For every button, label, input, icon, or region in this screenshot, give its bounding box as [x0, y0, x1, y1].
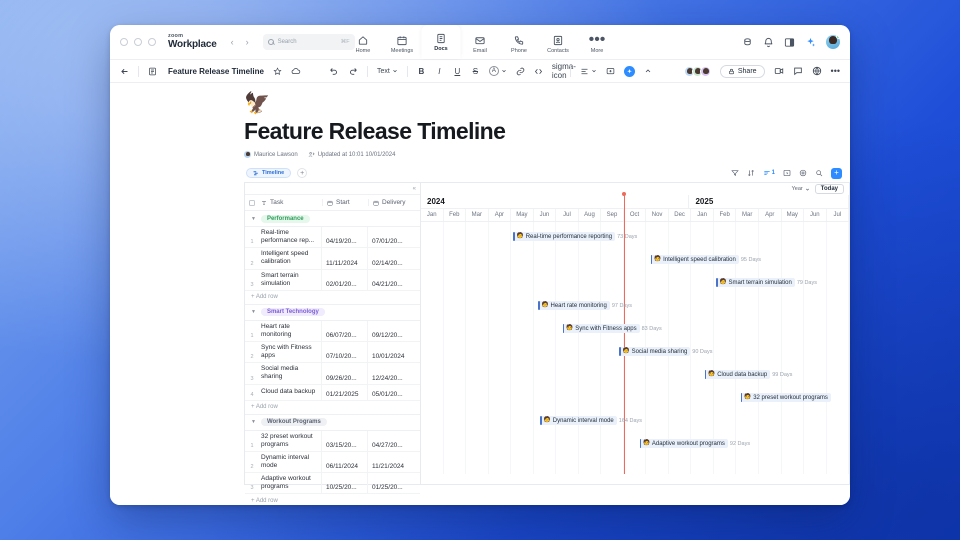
view-tab-label: Timeline	[262, 170, 284, 176]
column-header-start[interactable]: Start	[322, 199, 368, 206]
table-row[interactable]: 3Adaptive workout programs10/25/20...01/…	[245, 473, 420, 494]
cell-task[interactable]: Smart terrain simulation	[259, 270, 322, 290]
gantt-month-label: Feb	[444, 209, 467, 221]
gantt-month-label: Jul	[556, 209, 579, 221]
add-row-button[interactable]: + Add row	[245, 494, 420, 505]
app-nav-phone-label: Phone	[511, 48, 527, 54]
app-nav-contacts-label: Contacts	[547, 48, 569, 54]
toolbar-divider-3	[407, 66, 408, 77]
gantt-bar-body[interactable]: 🧑Real-time performance reporting	[513, 232, 615, 241]
add-row-button[interactable]: + Add row	[245, 291, 420, 305]
cell-delivery[interactable]: 09/12/20...	[368, 321, 420, 341]
app-nav-meetings[interactable]: Meetings	[383, 29, 422, 59]
assignee-avatar-icon: 🧑	[744, 395, 751, 401]
gantt-plot-area: 🧑Real-time performance reporting73 Days🧑…	[421, 222, 849, 474]
cell-task[interactable]: Real-time performance rep...	[259, 227, 322, 247]
table-row[interactable]: 2Sync with Fitness apps07/10/20...10/01/…	[245, 342, 420, 363]
gantt-month-label: Dec	[669, 209, 692, 221]
gantt-month-label: May	[782, 209, 805, 221]
collaborator-avatars[interactable]	[684, 66, 711, 77]
cell-delivery[interactable]: 07/01/20...	[368, 227, 420, 247]
gantt-bar-duration: 79 Days	[797, 280, 817, 286]
gridline	[444, 222, 467, 474]
gantt-bar-body[interactable]: 🧑Cloud data backup	[705, 370, 770, 379]
author-avatar	[244, 151, 251, 158]
bell-icon[interactable]	[763, 37, 774, 48]
gantt-month-label: Nov	[646, 209, 669, 221]
phone-icon	[514, 35, 525, 46]
gantt-bar-body[interactable]: 🧑32 preset workout programs	[741, 393, 831, 402]
mail-icon	[475, 35, 486, 46]
gantt-bar[interactable]: 🧑32 preset workout programs	[741, 393, 833, 402]
cover-emoji[interactable]: 🦅	[244, 93, 850, 114]
group-count: 1	[772, 170, 775, 176]
underline-button[interactable]: U	[453, 67, 462, 76]
add-record-button[interactable]: +	[831, 168, 842, 179]
gridline	[804, 222, 827, 474]
table-row[interactable]: 1Heart rate monitoring06/07/20...09/12/2…	[245, 321, 420, 342]
cell-task[interactable]: Sync with Fitness apps	[259, 342, 322, 362]
presence-indicator	[836, 35, 840, 39]
window-titlebar: zoom Workplace ‹ › Search ⌘F Home Mee	[110, 25, 850, 59]
row-index: 2	[245, 342, 259, 362]
ai-sparkle-icon[interactable]	[805, 37, 816, 48]
gantt-month-label: Oct	[624, 209, 647, 221]
database-tools[interactable]: 1 +	[731, 168, 850, 179]
table-header-row: Task Start Delivery	[245, 195, 420, 211]
user-avatar[interactable]	[826, 35, 840, 49]
close-button[interactable]	[120, 38, 128, 46]
gridline	[556, 222, 579, 474]
gantt-month-label: Mar	[466, 209, 489, 221]
gantt-month-label: Jun	[534, 209, 557, 221]
cell-start[interactable]: 07/10/20...	[322, 342, 368, 362]
search-icon	[268, 39, 274, 45]
gantt-bar-label: Dynamic interval mode	[553, 418, 614, 424]
home-icon	[358, 35, 369, 46]
cell-start[interactable]: 03/15/20...	[322, 431, 368, 451]
back-arrow-icon[interactable]	[120, 67, 129, 76]
cell-delivery[interactable]: 04/21/20...	[368, 270, 420, 290]
gantt-bar[interactable]: 🧑Intelligent speed calibration95 Days	[651, 255, 761, 264]
cell-task[interactable]: Cloud data backup	[259, 385, 322, 400]
formula-button[interactable]: sigma-icon	[552, 62, 561, 80]
database-toolbar[interactable]: Timeline + 1	[244, 167, 850, 179]
group-label: Performance	[261, 215, 310, 223]
gantt-bar-handle[interactable]	[538, 301, 540, 310]
global-search-input[interactable]: Search ⌘F	[263, 34, 355, 50]
document-title-breadcrumb[interactable]: Feature Release Timeline	[168, 67, 264, 76]
assignee-avatar-icon: 🧑	[654, 257, 661, 263]
assignee-avatar-icon: 🧑	[720, 280, 727, 286]
document-body: 🦅 Feature Release Timeline Maurice Lawso…	[110, 83, 850, 505]
cell-task[interactable]: Dynamic interval mode	[259, 452, 322, 472]
comment-box-icon[interactable]	[606, 67, 615, 76]
gantt-bar[interactable]: 🧑Social media sharing90 Days	[619, 347, 712, 356]
table-group-header[interactable]: ▼Performance	[245, 211, 420, 227]
table-group-header[interactable]: ▼Smart Technology	[245, 305, 420, 321]
cell-start[interactable]: 09/26/20...	[322, 363, 368, 383]
column-label-start: Start	[336, 199, 350, 206]
redo-icon[interactable]	[348, 66, 358, 76]
app-nav-home[interactable]: Home	[344, 29, 383, 59]
app-nav[interactable]: Home Meetings Docs Email	[344, 25, 617, 59]
app-nav-contacts[interactable]: Contacts	[539, 29, 578, 59]
gantt-month-label: Jan	[421, 209, 444, 221]
gantt-month-label: Mar	[736, 209, 759, 221]
app-nav-docs-label: Docs	[434, 46, 447, 52]
range-selector[interactable]: Year	[792, 186, 810, 192]
group-collapse-icon[interactable]: ▼	[251, 419, 256, 425]
group-collapse-icon[interactable]: ▼	[251, 216, 256, 222]
date-type-icon-2	[373, 200, 379, 206]
row-index: 1	[245, 227, 259, 247]
gantt-bar-handle[interactable]	[513, 232, 515, 241]
font-color-swatch: A	[489, 66, 499, 76]
gantt-bar-duration: 83 Days	[642, 326, 662, 332]
table-row[interactable]: 3Smart terrain simulation02/01/20...04/2…	[245, 270, 420, 291]
cell-start[interactable]: 11/11/2024	[322, 248, 368, 268]
assignee-avatar-icon: 🧑	[643, 441, 650, 447]
strikethrough-button[interactable]: S	[471, 67, 480, 76]
nav-forward-icon[interactable]: ›	[246, 37, 249, 47]
ai-icon[interactable]	[624, 66, 635, 77]
cell-delivery[interactable]: 02/14/20...	[368, 248, 420, 268]
document-toolbar[interactable]: Feature Release Timeline Text B I U S A	[110, 59, 850, 83]
timeline-icon	[253, 170, 259, 176]
row-index: 2	[245, 248, 259, 268]
gridline	[782, 222, 805, 474]
updated-info: Updated at 10:01 10/01/2024	[308, 151, 396, 158]
cell-task[interactable]: 32 preset workout programs	[259, 431, 322, 451]
cell-delivery[interactable]: 11/21/2024	[368, 452, 420, 472]
table-row[interactable]: 4Cloud data backup01/21/202505/01/20...	[245, 385, 420, 401]
cell-start[interactable]: 04/19/20...	[322, 227, 368, 247]
titlebar-right-actions[interactable]	[742, 35, 840, 49]
filter-icon[interactable]	[731, 169, 739, 177]
column-label-delivery: Delivery	[382, 199, 405, 206]
chevron-up-icon[interactable]	[644, 67, 652, 75]
panel-icon[interactable]	[784, 37, 795, 48]
gridline	[827, 222, 850, 474]
gantt-year-label: 2024	[421, 195, 689, 208]
cell-start[interactable]: 02/01/20...	[322, 270, 368, 290]
cell-task[interactable]: Adaptive workout programs	[259, 473, 322, 493]
gantt-bar-handle[interactable]	[741, 393, 743, 402]
assignee-avatar-icon: 🧑	[566, 326, 573, 332]
gantt-bar-label: Social media sharing	[632, 349, 688, 355]
date-type-icon	[327, 200, 333, 206]
link-icon[interactable]	[516, 67, 525, 76]
undo-icon[interactable]	[329, 66, 339, 76]
add-view-button[interactable]: +	[297, 168, 307, 178]
zoom-workplace-logo: zoom Workplace	[168, 34, 217, 51]
table-group-header[interactable]: ▼Workout Programs	[245, 415, 420, 431]
nav-back-icon[interactable]: ‹	[231, 37, 234, 47]
table-row[interactable]: 132 preset workout programs03/15/20...04…	[245, 431, 420, 452]
assignee-avatar-icon: 🧑	[708, 372, 715, 378]
row-index: 3	[245, 473, 259, 493]
gantt-year-header: 20242025	[421, 195, 849, 209]
gantt-bar-duration: 90 Days	[692, 349, 712, 355]
gantt-bar-duration: 97 Days	[612, 303, 632, 309]
history-nav[interactable]: ‹ ›	[231, 37, 249, 47]
timeline-grid: « Task Start	[244, 182, 850, 485]
document-content: 🦅 Feature Release Timeline Maurice Lawso…	[110, 93, 850, 485]
maximize-button[interactable]	[148, 38, 156, 46]
gantt-bar[interactable]: 🧑Real-time performance reporting73 Days	[513, 232, 637, 241]
gridline	[579, 222, 602, 474]
cell-start[interactable]: 01/21/2025	[322, 385, 368, 400]
video-icon[interactable]	[774, 66, 784, 76]
page-title[interactable]: Feature Release Timeline	[244, 118, 850, 145]
align-icon	[580, 67, 589, 76]
gridline	[511, 222, 534, 474]
gantt-month-label: Sep	[601, 209, 624, 221]
gantt-month-label: Jan	[691, 209, 714, 221]
doc-page-icon	[148, 67, 157, 76]
doc-icon	[436, 33, 447, 44]
app-nav-more-label: More	[591, 48, 604, 54]
cell-delivery[interactable]: 01/25/20...	[368, 473, 420, 493]
share-button[interactable]: Share	[720, 65, 765, 78]
sort-icon[interactable]	[747, 169, 755, 177]
app-nav-email[interactable]: Email	[461, 29, 500, 59]
table-row[interactable]: 3Social media sharing09/26/20...12/24/20…	[245, 363, 420, 384]
share-label: Share	[738, 68, 757, 75]
gantt-bar-duration: 95 Days	[741, 257, 761, 263]
gantt-month-label: Feb	[714, 209, 737, 221]
row-index: 1	[245, 321, 259, 341]
cell-delivery[interactable]: 04/27/20...	[368, 431, 420, 451]
toolbar-divider-2	[367, 66, 368, 77]
star-icon[interactable]	[273, 67, 282, 76]
table-collapse-button[interactable]: «	[245, 183, 420, 195]
gantt-bar-duration: 99 Days	[772, 372, 792, 378]
gantt-bar-handle[interactable]	[540, 416, 542, 425]
cell-task[interactable]: Heart rate monitoring	[259, 321, 322, 341]
gridline	[534, 222, 557, 474]
row-index: 1	[245, 431, 259, 451]
brand-line-2: Workplace	[168, 40, 217, 50]
calendar-icon	[397, 35, 408, 46]
cell-start[interactable]: 06/11/2024	[322, 452, 368, 472]
gantt-bar-body[interactable]: 🧑Dynamic interval mode	[540, 416, 616, 425]
gridline	[489, 222, 512, 474]
lock-icon	[728, 68, 735, 75]
updated-text: Updated at 10:01 10/01/2024	[318, 152, 396, 158]
chevron-down-icon-2	[501, 68, 507, 74]
text-style-dropdown[interactable]: Text	[377, 68, 398, 75]
gridline	[759, 222, 782, 474]
gantt-bar-duration: 164 Days	[619, 418, 642, 424]
gridline	[466, 222, 489, 474]
add-row-button[interactable]: + Add row	[245, 401, 420, 415]
table-row[interactable]: 1Real-time performance rep...04/19/20...…	[245, 227, 420, 248]
app-nav-phone[interactable]: Phone	[500, 29, 539, 59]
chevron-down-icon	[392, 68, 398, 74]
window-controls[interactable]	[120, 38, 156, 46]
avatar[interactable]	[700, 66, 711, 77]
assignee-avatar-icon: 🧑	[544, 418, 551, 424]
cell-start[interactable]: 10/25/20...	[322, 473, 368, 493]
gantt-month-label: Apr	[759, 209, 782, 221]
today-button[interactable]: Today	[815, 184, 844, 194]
gantt-bar[interactable]: 🧑Adaptive workout programs92 Days	[640, 439, 751, 448]
task-table: « Task Start	[244, 182, 420, 485]
group-collapse-icon[interactable]: ▼	[251, 309, 256, 315]
gantt-month-header: JanFebMarAprMayJunJulAugSepOctNovDecJanF…	[421, 209, 849, 222]
chevron-down-icon-range	[805, 187, 810, 192]
assignee-avatar-icon: 🧑	[623, 349, 630, 355]
code-icon[interactable]	[534, 67, 543, 76]
row-index: 3	[245, 363, 259, 383]
gantt-bar[interactable]: 🧑Dynamic interval mode164 Days	[540, 416, 642, 425]
gantt-bar-handle[interactable]	[640, 439, 642, 448]
app-nav-email-label: Email	[473, 48, 487, 54]
range-selector-label: Year	[792, 186, 803, 192]
history-icon[interactable]	[783, 169, 791, 177]
select-all-checkbox[interactable]	[245, 200, 259, 206]
zoom-workplace-window: zoom Workplace ‹ › Search ⌘F Home Mee	[110, 25, 850, 505]
gantt-bar-handle[interactable]	[563, 324, 565, 333]
align-button[interactable]	[580, 67, 597, 76]
gantt-bar-label: Cloud data backup	[717, 372, 767, 378]
gantt-year-label: 2025	[689, 195, 849, 208]
gantt-bar-duration: 73 Days	[617, 234, 637, 240]
gantt-bar-body[interactable]: 🧑Intelligent speed calibration	[651, 255, 739, 264]
database-block: Timeline + 1	[244, 167, 850, 485]
author-name: Maurice Lawson	[254, 152, 298, 158]
group-label: Workout Programs	[261, 418, 327, 426]
headset-icon[interactable]	[742, 37, 753, 48]
globe-icon[interactable]	[812, 66, 822, 76]
search-icon-table[interactable]	[815, 169, 823, 177]
ellipsis-icon: •••	[592, 35, 603, 46]
gantt-month-label: Apr	[489, 209, 512, 221]
cell-task[interactable]: Social media sharing	[259, 363, 322, 383]
gantt-bar-handle[interactable]	[716, 278, 718, 287]
app-nav-meetings-label: Meetings	[391, 48, 413, 54]
table-groups: ▼Performance1Real-time performance rep..…	[245, 211, 420, 505]
row-index: 2	[245, 452, 259, 472]
gantt-bar[interactable]: 🧑Sync with Fitness apps83 Days	[563, 324, 662, 333]
assignee-avatar-icon: 🧑	[517, 234, 524, 240]
cell-delivery[interactable]: 10/01/2024	[368, 342, 420, 362]
minimize-button[interactable]	[134, 38, 142, 46]
gantt-bar-label: 32 preset workout programs	[753, 395, 828, 401]
app-nav-more[interactable]: ••• More	[578, 29, 617, 59]
edit-history-icon	[308, 151, 315, 158]
table-row[interactable]: 2Intelligent speed calibration11/11/2024…	[245, 248, 420, 269]
gantt-bar-body[interactable]: 🧑Sync with Fitness apps	[563, 324, 640, 333]
gantt-bar-body[interactable]: 🧑Smart terrain simulation	[716, 278, 795, 287]
gantt-chart: Year Today 20242025 JanFebMarAprMayJunJu…	[420, 182, 850, 485]
contacts-icon	[553, 35, 564, 46]
view-tab-timeline[interactable]: Timeline	[246, 168, 291, 178]
column-header-delivery[interactable]: Delivery	[368, 199, 420, 206]
gantt-bar[interactable]: 🧑Cloud data backup99 Days	[705, 370, 793, 379]
group-icon[interactable]: 1	[763, 169, 775, 177]
gantt-bar[interactable]: 🧑Heart rate monitoring97 Days	[538, 301, 632, 310]
app-nav-home-label: Home	[356, 48, 371, 54]
text-type-icon	[261, 200, 267, 206]
cell-start[interactable]: 06/07/20...	[322, 321, 368, 341]
gantt-bar-handle[interactable]	[705, 370, 707, 379]
search-placeholder: Search	[278, 39, 337, 45]
row-index: 4	[245, 385, 259, 400]
gantt-bar-label: Intelligent speed calibration	[663, 257, 736, 263]
gantt-bar-label: Heart rate monitoring	[550, 303, 606, 309]
gantt-month-label: May	[511, 209, 534, 221]
gantt-bar-duration: 92 Days	[730, 441, 750, 447]
cell-delivery[interactable]: 12/24/20...	[368, 363, 420, 383]
column-header-task[interactable]: Task	[259, 199, 322, 206]
cell-delivery[interactable]: 05/01/20...	[368, 385, 420, 400]
gantt-month-label: Jun	[804, 209, 827, 221]
gantt-bar-body[interactable]: 🧑Heart rate monitoring	[538, 301, 610, 310]
chat-icon[interactable]	[793, 66, 803, 76]
chevron-down-icon-3	[591, 68, 597, 74]
text-style-label: Text	[377, 68, 390, 75]
group-label: Smart Technology	[261, 308, 325, 316]
document-meta: Maurice Lawson Updated at 10:01 10/01/20…	[244, 151, 850, 158]
gantt-bar-body[interactable]: 🧑Adaptive workout programs	[640, 439, 728, 448]
assignee-avatar-icon: 🧑	[542, 303, 549, 309]
gantt-bar-handle[interactable]	[651, 255, 653, 264]
toolbar-divider	[138, 66, 139, 77]
settings-icon[interactable]	[799, 169, 807, 177]
cell-task[interactable]: Intelligent speed calibration	[259, 248, 322, 268]
row-index: 3	[245, 270, 259, 290]
toolbar-divider-4	[570, 66, 571, 77]
italic-button[interactable]: I	[435, 67, 444, 76]
gantt-controls[interactable]: Year Today	[421, 183, 849, 195]
author-info: Maurice Lawson	[244, 151, 298, 158]
gridline	[421, 222, 444, 474]
gantt-month-label: Jul	[827, 209, 850, 221]
font-color-button[interactable]: A	[489, 66, 507, 76]
gantt-bar-label: Adaptive workout programs	[652, 441, 725, 447]
gantt-bar-body[interactable]: 🧑Social media sharing	[619, 347, 690, 356]
table-row[interactable]: 2Dynamic interval mode06/11/202411/21/20…	[245, 452, 420, 473]
gantt-bar-label: Smart terrain simulation	[728, 280, 791, 286]
column-label-task: Task	[270, 199, 283, 206]
app-nav-docs[interactable]: Docs	[422, 25, 461, 59]
gantt-month-label: Aug	[579, 209, 602, 221]
gantt-bar[interactable]: 🧑Smart terrain simulation79 Days	[716, 278, 817, 287]
gantt-bar-handle[interactable]	[619, 347, 621, 356]
more-icon[interactable]: •••	[831, 69, 840, 73]
gantt-bar-label: Sync with Fitness apps	[575, 326, 636, 332]
gantt-bar-label: Real-time performance reporting	[526, 234, 612, 240]
bold-button[interactable]: B	[417, 67, 426, 76]
cloud-saved-icon	[291, 66, 301, 76]
